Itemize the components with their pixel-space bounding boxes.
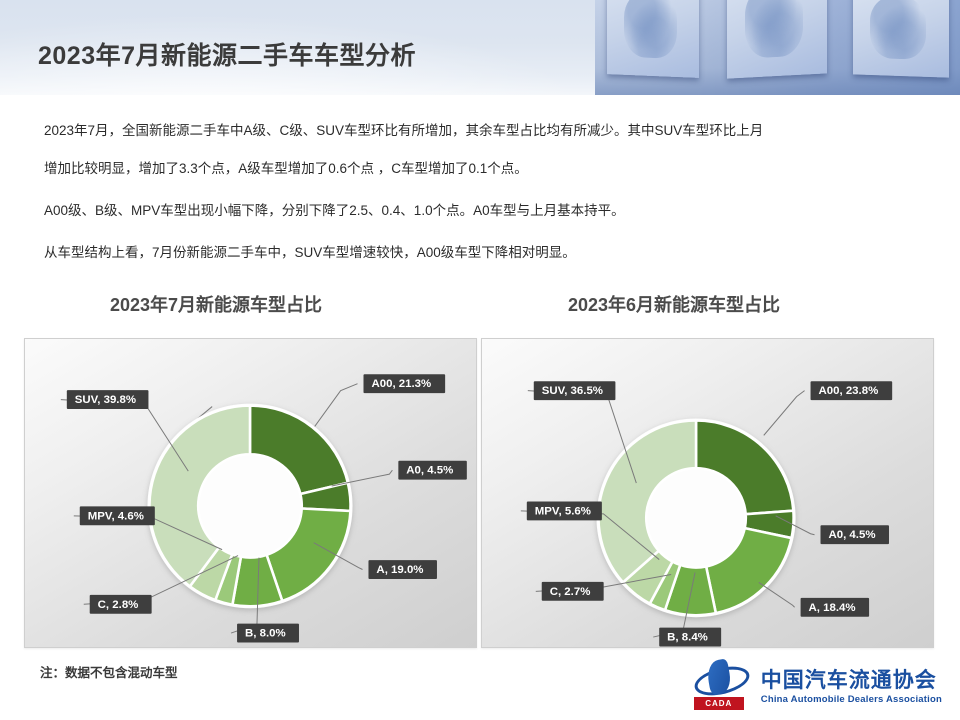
donut-slices-july — [147, 404, 352, 609]
footnote: 注：数据不包含混动车型 — [40, 662, 178, 681]
paragraph-2: 增加比较明显，增加了3.3个点，A级车型增加了0.6个点 ，C车型增加了0.1个… — [44, 150, 924, 188]
slide-header: 2023年7月新能源二手车车型分析 — [0, 0, 960, 95]
leader-line-a00 — [315, 384, 358, 427]
paragraph-1: 2023年7月，全国新能源二手车中A级、C级、SUV车型环比有所增加，其余车型占… — [44, 112, 924, 150]
donut-chart-july: A00, 21.3%A0, 4.5%A, 19.0%B, 8.0%C, 2.8%… — [25, 339, 476, 647]
chart-title-july: 2023年7月新能源车型占比 — [110, 291, 322, 317]
cada-mark-text: CADA — [694, 697, 744, 710]
body-text-block: 2023年7月，全国新能源二手车中A级、C级、SUV车型环比有所增加，其余车型占… — [44, 112, 924, 272]
data-label-text-a: A, 19.0% — [376, 564, 423, 576]
data-label-text-suv: SUV, 36.5% — [542, 385, 603, 397]
chart-title-june: 2023年6月新能源车型占比 — [568, 291, 780, 317]
paragraph-4: 从车型结构上看，7月份新能源二手车中，SUV车型增速较快，A00级车型下降相对明… — [44, 234, 924, 272]
decorative-cube-icon — [853, 0, 949, 78]
leader-line-a — [759, 582, 795, 607]
cada-logo-en: China Automobile Dealers Association — [761, 694, 942, 705]
paragraph-3: A00级、B级、MPV车型出现小幅下降，分别下降了2.5、0.4、1.0个点。A… — [44, 192, 924, 230]
chart-panel-july: A00, 21.3%A0, 4.5%A, 19.0%B, 8.0%C, 2.8%… — [24, 338, 477, 648]
leader-line-a00 — [764, 391, 805, 436]
data-label-text-mpv: MPV, 5.6% — [535, 505, 591, 517]
cada-logo-cn: 中国汽车流通协会 — [761, 664, 942, 694]
data-label-text-c: C, 2.7% — [550, 586, 591, 598]
cada-logo-text: 中国汽车流通协会 China Automobile Dealers Associ… — [761, 664, 942, 705]
decorative-cube-icon — [727, 0, 827, 79]
data-label-text-a0: A0, 4.5% — [828, 529, 875, 541]
chart-panel-june: A00, 23.8%A0, 4.5%A, 18.4%B, 8.4%C, 2.7%… — [481, 338, 934, 648]
cada-logo: CADA 中国汽车流通协会 China Automobile Dealers A… — [692, 655, 942, 713]
slide-root: 2023年7月新能源二手车车型分析 2023年7月，全国新能源二手车中A级、C级… — [0, 0, 960, 720]
data-label-text-b: B, 8.0% — [245, 628, 286, 640]
page-title: 2023年7月新能源二手车车型分析 — [38, 36, 416, 72]
data-label-text-a: A, 18.4% — [809, 602, 856, 614]
data-label-text-a0: A0, 4.5% — [406, 465, 453, 477]
data-label-text-a00: A00, 21.3% — [371, 378, 431, 390]
donut-chart-june: A00, 23.8%A0, 4.5%A, 18.4%B, 8.4%C, 2.7%… — [482, 339, 933, 647]
data-label-text-suv: SUV, 39.8% — [75, 394, 136, 406]
data-label-text-b: B, 8.4% — [667, 632, 708, 644]
data-label-text-c: C, 2.8% — [98, 599, 139, 611]
cada-emblem-icon: CADA — [692, 658, 752, 710]
data-label-text-a00: A00, 23.8% — [819, 385, 879, 397]
data-label-text-mpv: MPV, 4.6% — [88, 510, 144, 522]
